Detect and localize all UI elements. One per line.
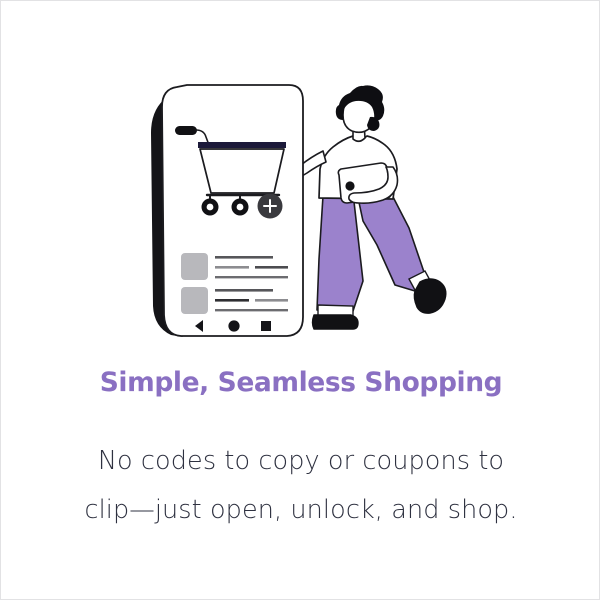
product-thumbnail	[181, 287, 208, 314]
page-title: Simple, Seamless Shopping	[1, 367, 600, 398]
page-description: No codes to copy or coupons to clip—just…	[51, 437, 551, 535]
promo-card: Simple, Seamless Shopping No codes to co…	[0, 0, 600, 600]
cart-basket	[200, 149, 284, 193]
cart-rim	[198, 142, 286, 148]
tablet-camera-dot	[345, 181, 354, 190]
shopper-figure	[284, 85, 446, 329]
list-item[interactable]	[181, 287, 288, 314]
phone-mockup	[151, 85, 303, 337]
android-home-button[interactable]	[228, 320, 239, 331]
shopper-front-shoe	[414, 279, 445, 313]
android-recents-button[interactable]	[261, 321, 271, 331]
cart-handle	[175, 126, 197, 135]
add-to-cart-button[interactable]	[258, 194, 283, 219]
product-thumbnail	[181, 253, 208, 280]
description-line-2: clip—just open, unlock, and shop.	[51, 486, 551, 535]
illustration-area	[1, 23, 600, 343]
description-line-1: No codes to copy or coupons to	[51, 437, 551, 486]
shopper-back-shoe	[313, 315, 359, 329]
shopper-back-leg	[317, 193, 363, 311]
